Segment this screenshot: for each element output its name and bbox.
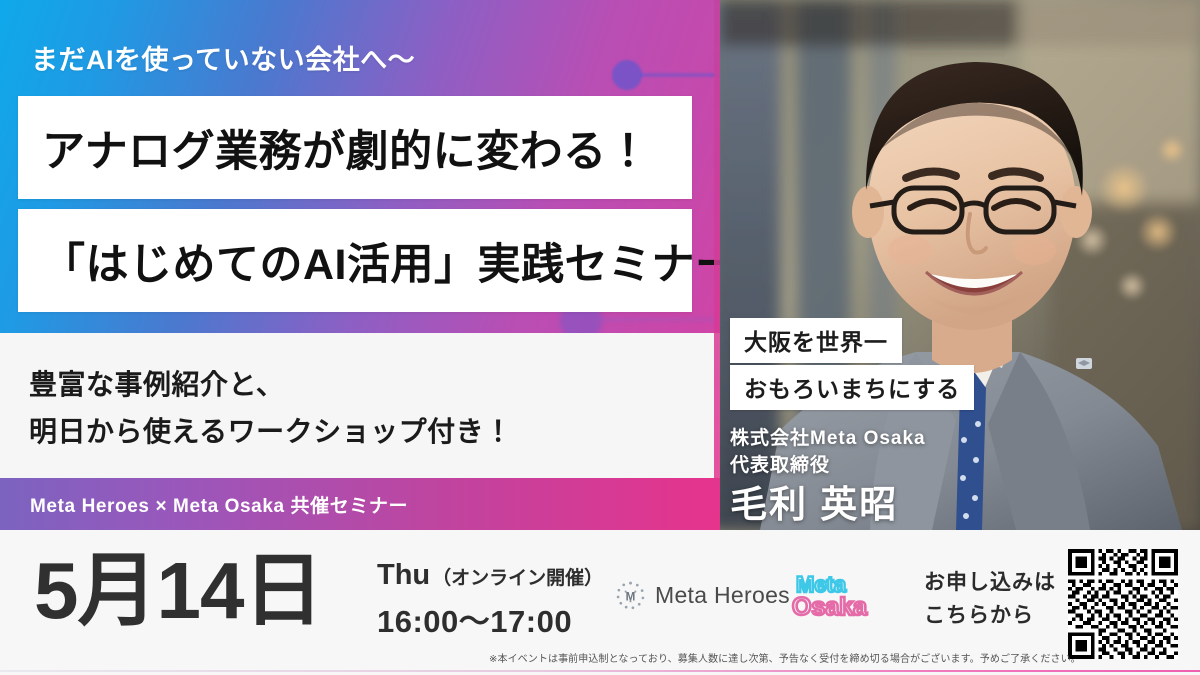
event-format-note: （オンライン開催） <box>432 563 603 590</box>
apply-cta-text: お申し込みは こちらから <box>924 567 1056 632</box>
event-time-block: Thu （オンライン開催） 16:00〜17:00 <box>377 559 603 641</box>
meta-heroes-mark-icon: M <box>615 580 646 611</box>
event-date: 5月14日 <box>34 551 322 631</box>
event-day-of-week: Thu <box>377 559 430 592</box>
qr-code[interactable] <box>1068 549 1178 659</box>
fineprint-note: ※本イベントは事前申込制となっており、募集人数に達し次第、予告なく受付を締め切る… <box>489 650 1081 665</box>
hero-tagline: まだAIを使っていない会社へ〜 <box>31 38 415 77</box>
headline-box-primary: アナログ業務が劇的に変わる！ <box>18 96 692 199</box>
speaker-slogan-line-1: 大阪を世界一 <box>730 318 902 363</box>
seminar-promo-banner: まだAIを使っていない会社へ〜 アナログ業務が劇的に変わる！ 「はじめてのAI活… <box>0 0 1200 675</box>
cohost-bar: Meta Heroes × Meta Osaka 共催セミナー <box>0 478 720 530</box>
svg-text:Osaka: Osaka <box>792 593 868 620</box>
description-line-2: 明日から使えるワークショップ付き！ <box>29 410 513 450</box>
event-day-row: Thu （オンライン開催） <box>377 559 603 592</box>
left-content-column: まだAIを使っていない会社へ〜 アナログ業務が劇的に変わる！ 「はじめてのAI活… <box>0 0 720 540</box>
bottom-accent-rule <box>0 670 1200 672</box>
speaker-company: 株式会社Meta Osaka <box>730 423 926 450</box>
speaker-slogan-line-2: おもろいまちにする <box>730 365 974 410</box>
cohost-text: Meta Heroes × Meta Osaka 共催セミナー <box>0 491 408 518</box>
apply-cta-line-1: お申し込みは <box>924 567 1056 600</box>
meta-heroes-logo: M Meta Heroes <box>615 580 790 611</box>
svg-text:M: M <box>626 590 636 603</box>
description-line-1: 豊富な事例紹介と、 <box>29 363 284 403</box>
network-line-icon <box>640 73 720 77</box>
headline-text-primary: アナログ業務が劇的に変わる！ <box>18 117 650 179</box>
speaker-role: 代表取締役 <box>730 450 830 477</box>
meta-osaka-logo: Meta Osaka <box>790 570 908 620</box>
description-area <box>0 333 720 478</box>
headline-box-secondary: 「はじめてのAI活用」実践セミナー <box>18 209 692 312</box>
network-node-icon <box>612 60 642 90</box>
network-line-secondary-icon <box>600 318 720 321</box>
meta-heroes-wordmark: Meta Heroes <box>655 582 790 609</box>
apply-cta-line-2: こちらから <box>924 600 1056 633</box>
speaker-name: 毛利 英昭 <box>730 474 898 528</box>
headline-text-secondary: 「はじめてのAI活用」実践セミナー <box>18 230 739 292</box>
event-time-range: 16:00〜17:00 <box>377 596 603 641</box>
